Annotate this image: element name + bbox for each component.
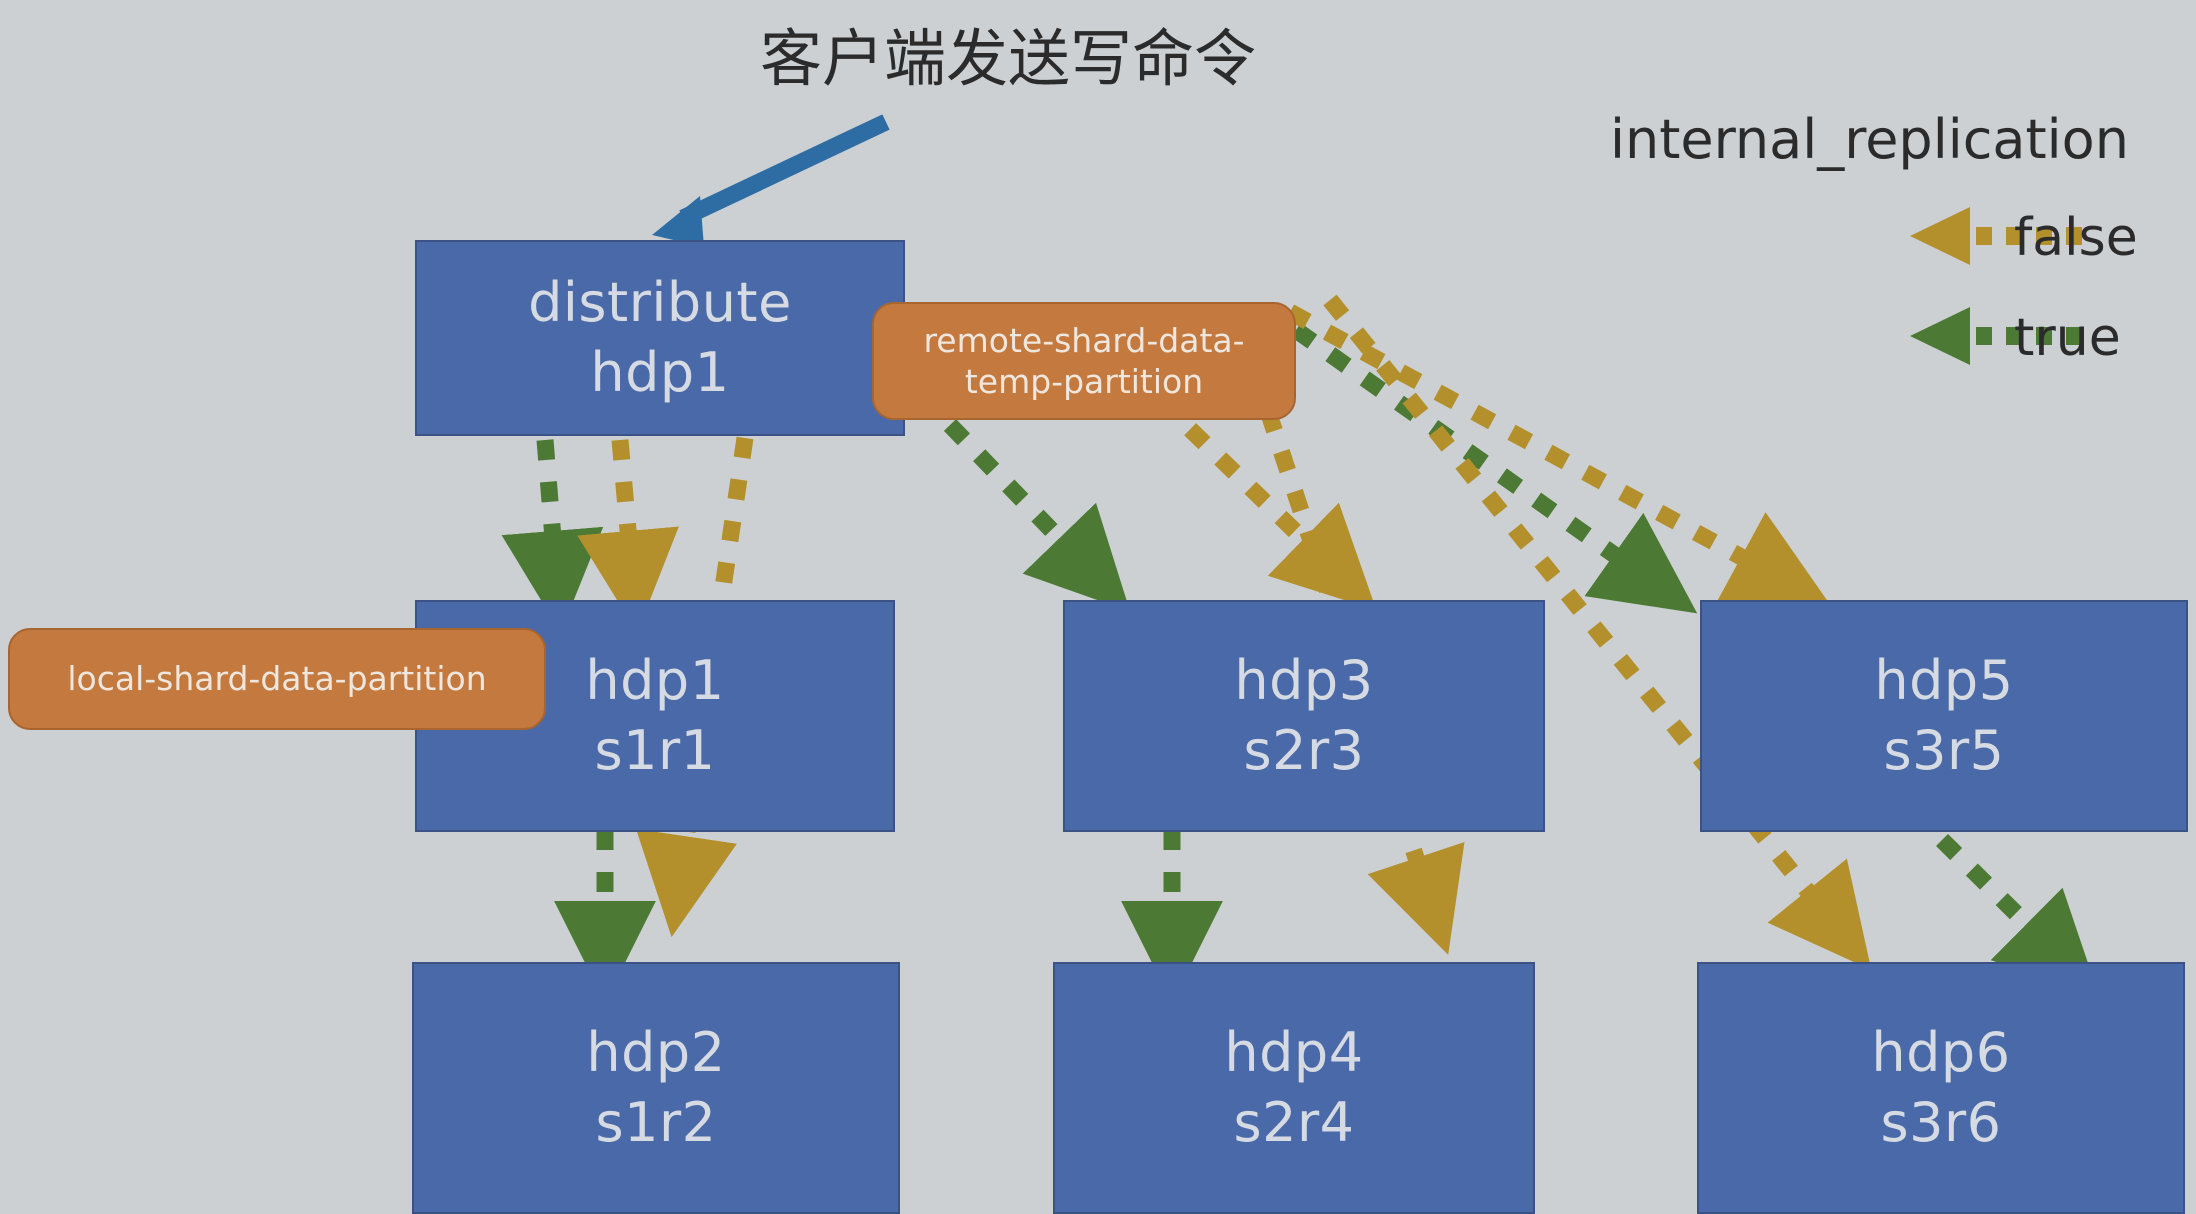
edge-distribute-hdp1-false [620,440,632,575]
node-hdp5-line1: hdp5 [1874,648,2013,714]
legend-label-false: false [2014,208,2138,268]
node-distribute[interactable]: distribute hdp1 [415,240,905,436]
node-hdp6-line1: hdp6 [1871,1020,2010,1086]
node-hdp2-line2: s1r2 [595,1090,716,1156]
node-hdp3[interactable]: hdp3 s2r3 [1063,600,1545,832]
edge-distribute-hdp5-true [1296,330,1650,580]
node-hdp4-line1: hdp4 [1224,1020,1363,1086]
page-title: 客户端发送写命令 [760,8,1256,98]
node-hdp5-line2: s3r5 [1883,718,2004,784]
edge-distribute-hdp3-true [950,425,1090,570]
node-hdp4[interactable]: hdp4 s2r4 [1053,962,1535,1214]
legend-label-true: true [2014,308,2121,368]
node-hdp3-line2: s2r3 [1243,718,1364,784]
node-distribute-line1: distribute [528,270,792,336]
node-hdp1-line1: hdp1 [585,648,724,714]
node-hdp2[interactable]: hdp2 s1r2 [412,962,900,1214]
node-hdp2-line1: hdp2 [586,1020,725,1086]
pill-remote-line1: remote-shard-data- [923,320,1244,361]
edge-hdp5-hdp6-true [1942,840,2058,955]
pill-local-shard-data-partition[interactable]: local-shard-data-partition [8,628,546,730]
pill-remote-shard-data-temp-partition[interactable]: remote-shard-data- temp-partition [872,302,1296,420]
edge-distribute-hdp1-true [545,440,556,575]
client-write-arrow [652,122,886,247]
node-hdp6-line2: s3r6 [1880,1090,2001,1156]
diagram-canvas: 客户端发送写命令 internal_replication false true… [0,0,2196,1214]
pill-local-line1: local-shard-data-partition [67,658,486,699]
pill-remote-line2: temp-partition [965,361,1203,402]
node-hdp4-line2: s2r4 [1233,1090,1354,1156]
legend-title: internal_replication [1610,108,2129,171]
node-hdp3-line1: hdp3 [1234,648,1373,714]
node-distribute-line2: hdp1 [590,340,729,406]
node-hdp1-line2: s1r1 [594,718,715,784]
node-hdp5[interactable]: hdp5 s3r5 [1700,600,2188,832]
node-hdp6[interactable]: hdp6 s3r6 [1697,962,2185,1214]
